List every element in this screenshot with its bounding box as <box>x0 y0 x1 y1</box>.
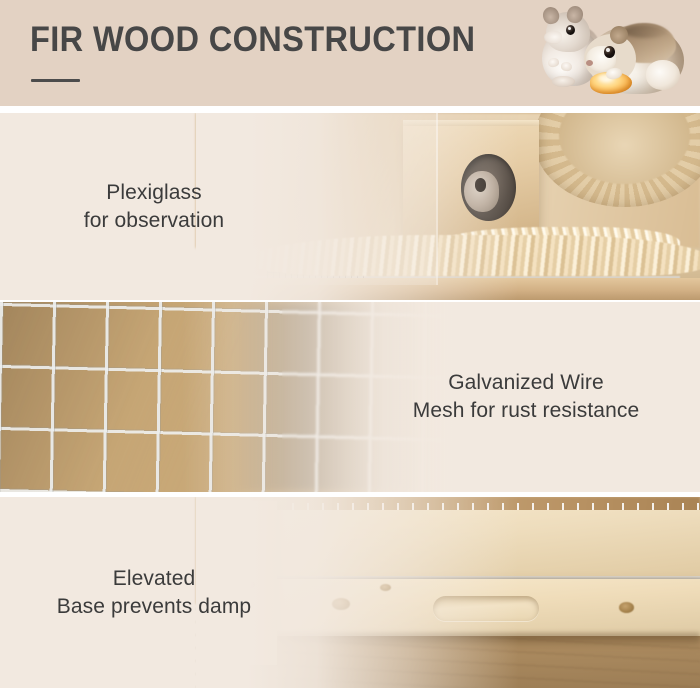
product-feature-infographic: FIR WOOD CONSTRUCTION <box>0 0 700 700</box>
caption-line-1: Elevated <box>24 564 284 592</box>
caption-line-2: Mesh for rust resistance <box>366 397 686 425</box>
brown-hamster-eating-icon <box>584 20 688 104</box>
caption-galvanized-wire-mesh: Galvanized Wire Mesh for rust resistance <box>366 369 686 425</box>
page-title: FIR WOOD CONSTRUCTION <box>30 20 475 60</box>
caption-elevated-base: Elevated Base prevents damp <box>24 564 284 620</box>
feature-panel-elevated-base: Elevated Base prevents damp <box>0 497 700 688</box>
caption-line-2: Base prevents damp <box>24 593 284 621</box>
caption-line-1: Plexiglass <box>24 178 284 206</box>
feature-panel-plexiglass: Plexiglass for observation <box>0 113 700 300</box>
caption-plexiglass: Plexiglass for observation <box>24 178 284 234</box>
caption-line-1: Galvanized Wire <box>366 369 686 397</box>
hamster-pair-image <box>534 2 694 106</box>
caption-line-2: for observation <box>24 207 284 235</box>
feature-panel-wire-mesh: Galvanized Wire Mesh for rust resistance <box>0 302 700 492</box>
header-banner: FIR WOOD CONSTRUCTION <box>0 0 700 106</box>
title-underline-rule <box>31 79 80 82</box>
